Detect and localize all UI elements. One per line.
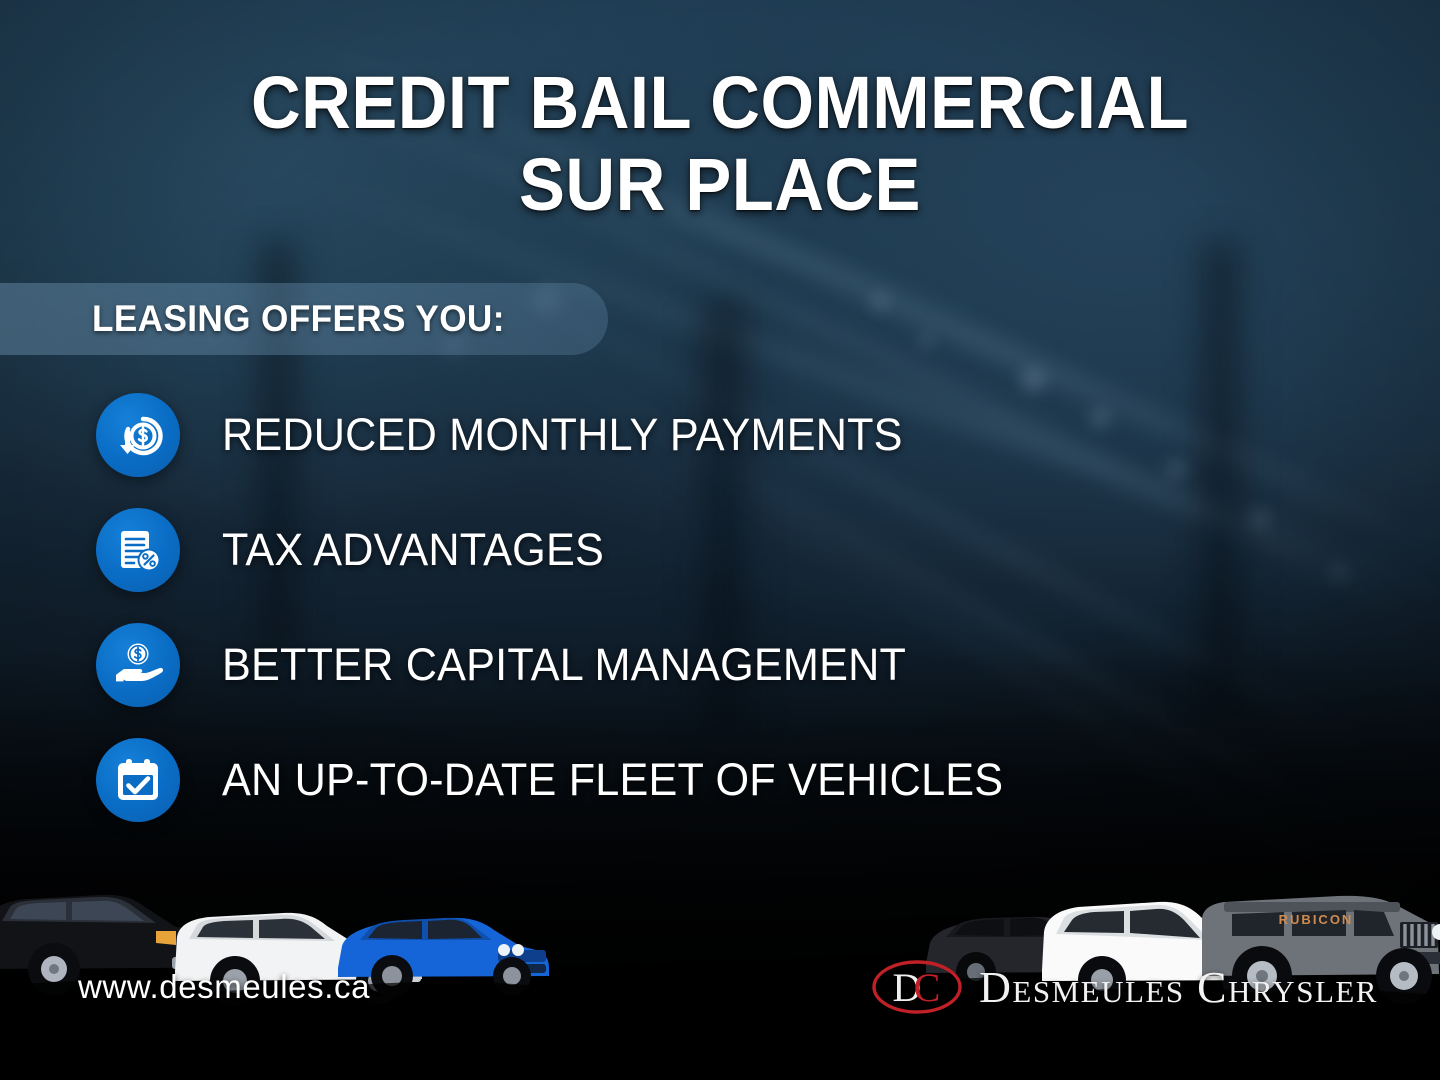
benefit-item-fleet: AN UP-TO-DATE FLEET OF VEHICLES — [96, 730, 1036, 830]
title-line-1: CREDIT BAIL COMMERCIAL — [251, 61, 1189, 144]
banner-label: LEASING OFFERS YOU: — [92, 298, 505, 340]
leasing-offers-banner: LEASING OFFERS YOU: — [0, 283, 608, 355]
benefit-label: REDUCED MONTHLY PAYMENTS — [222, 409, 903, 461]
promotional-slide: CREDIT BAIL COMMERCIAL SUR PLACE LEASING… — [0, 0, 1440, 1080]
desmeules-chrysler-logo: D C Desmeules Chrysler — [871, 958, 1378, 1016]
benefit-item-reduced-payments: REDUCED MONTHLY PAYMENTS — [96, 385, 1036, 485]
website-url[interactable]: www.desmeules.ca — [78, 968, 370, 1006]
document-percent-icon — [96, 508, 180, 592]
benefits-list: REDUCED MONTHLY PAYMENTS — [96, 385, 1036, 845]
logo-wordmark: Desmeules Chrysler — [979, 962, 1378, 1013]
benefit-item-tax-advantages: TAX ADVANTAGES — [96, 500, 1036, 600]
benefit-label: BETTER CAPITAL MANAGEMENT — [222, 639, 906, 691]
dollar-arrow-down-icon — [96, 393, 180, 477]
hand-holding-coin-icon — [96, 623, 180, 707]
title-line-2: SUR PLACE — [50, 144, 1389, 226]
svg-text:C: C — [914, 965, 941, 1010]
benefit-label: AN UP-TO-DATE FLEET OF VEHICLES — [222, 754, 1003, 806]
slide-title: CREDIT BAIL COMMERCIAL SUR PLACE — [50, 62, 1389, 226]
benefit-item-capital-management: BETTER CAPITAL MANAGEMENT — [96, 615, 1036, 715]
calendar-check-icon — [96, 738, 180, 822]
benefit-label: TAX ADVANTAGES — [222, 524, 604, 576]
dc-monogram-icon: D C — [871, 958, 963, 1016]
